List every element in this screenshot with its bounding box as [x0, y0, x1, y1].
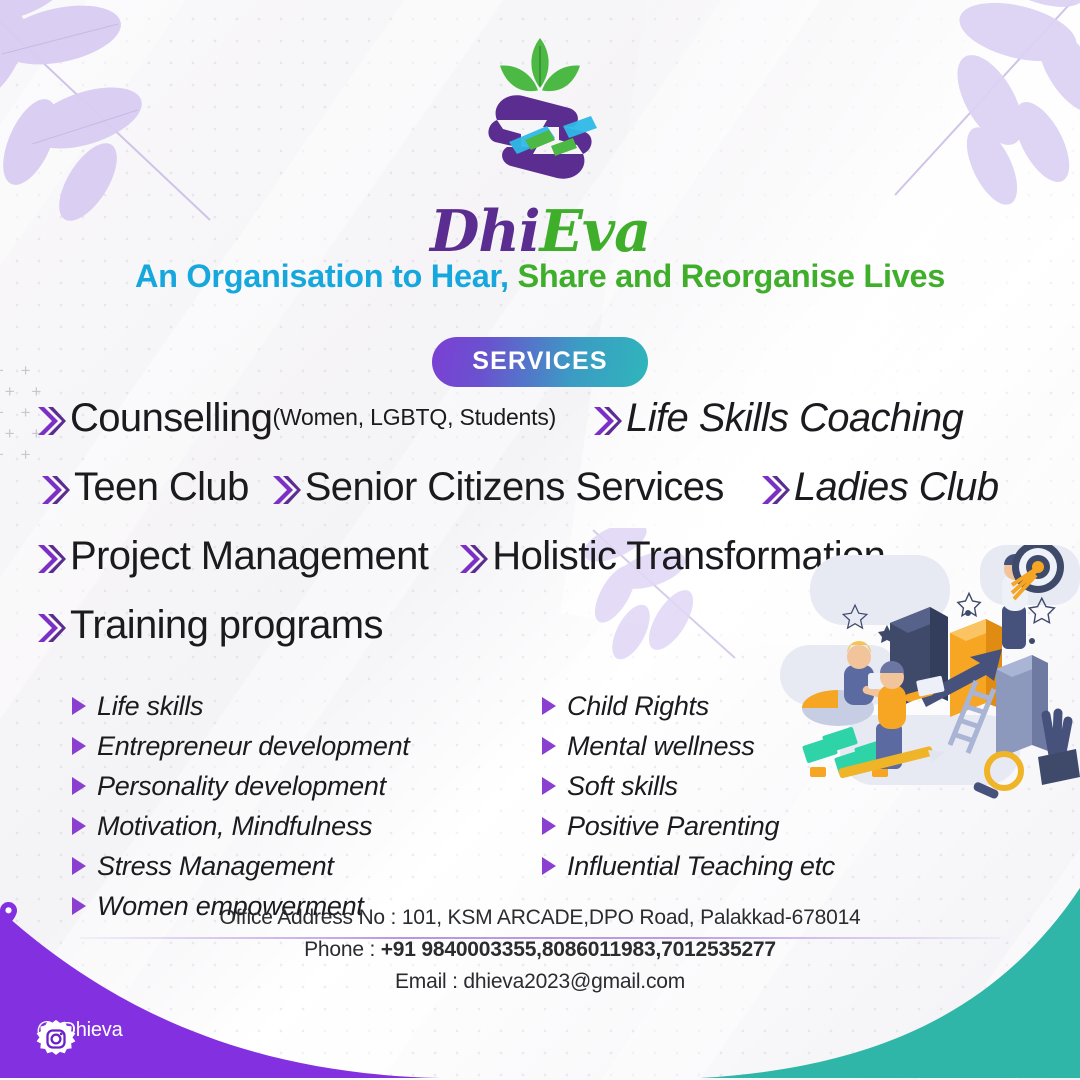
- service-label: Teen Club: [74, 465, 249, 510]
- list-item: Child Rights: [542, 686, 962, 726]
- service-label: Holistic Transformation: [492, 534, 885, 579]
- service-label: Training programs: [70, 603, 383, 648]
- social-block: @ Dhieva: [36, 1019, 123, 1042]
- training-label: Entrepreneur development: [97, 731, 410, 762]
- tagline: An Organisation to Hear, Share and Reorg…: [0, 258, 1080, 295]
- service-item-teen-club: Teen Club: [40, 465, 249, 510]
- phone-line: Phone : +91 9840003355,8086011983,701253…: [0, 934, 1080, 966]
- services-list: Counselling (Women, LGBTQ, Students) Lif…: [0, 396, 1080, 658]
- training-label: Motivation, Mindfulness: [97, 811, 372, 842]
- brand-name-part2: Eva: [540, 198, 651, 265]
- service-item-senior-citizens-services: Senior Citizens Services: [271, 465, 724, 510]
- service-item-holistic-transformation: Holistic Transformation: [458, 534, 885, 579]
- phone-label: Phone :: [304, 938, 381, 961]
- service-item-training-programs: Training programs: [36, 603, 383, 648]
- triangle-right-icon: [542, 777, 556, 795]
- brand-wordmark: DhiEva: [0, 203, 1080, 260]
- triangle-right-icon: [72, 777, 86, 795]
- service-label: Counselling: [70, 396, 272, 441]
- instagram-icon[interactable]: [36, 1019, 76, 1059]
- tagline-part2: Share and Reorganise Lives: [518, 258, 946, 294]
- service-row-1: Counselling (Women, LGBTQ, Students) Lif…: [0, 396, 1080, 441]
- training-label: Soft skills: [567, 771, 678, 802]
- training-label: Positive Parenting: [567, 811, 779, 842]
- service-row-2: Teen Club Senior Citizens Services Ladie…: [0, 465, 1080, 510]
- services-badge-row: SERVICES: [0, 337, 1080, 387]
- email-line: Email : dhieva2023@gmail.com: [0, 966, 1080, 998]
- service-row-4: Training programs: [0, 603, 1080, 648]
- double-chevron-right-icon: [36, 404, 66, 438]
- hands-leaf-logo-icon: [451, 28, 629, 208]
- service-item-project-management: Project Management: [36, 534, 428, 579]
- service-note: (Women, LGBTQ, Students): [272, 404, 556, 431]
- list-item: Mental wellness: [542, 726, 962, 766]
- footer: Office Address No : 101, KSM ARCADE,DPO …: [0, 888, 1080, 1080]
- service-item-counselling: Counselling (Women, LGBTQ, Students): [36, 396, 556, 441]
- double-chevron-right-icon: [36, 611, 66, 645]
- list-item: Life skills: [72, 686, 542, 726]
- triangle-right-icon: [72, 697, 86, 715]
- list-item: Personality development: [72, 766, 542, 806]
- service-label: Senior Citizens Services: [305, 465, 724, 510]
- double-chevron-right-icon: [760, 473, 790, 507]
- service-row-3: Project Management Holistic Transformati…: [0, 534, 1080, 579]
- triangle-right-icon: [542, 817, 556, 835]
- double-chevron-right-icon: [271, 473, 301, 507]
- brand-name-part1: Dhi: [430, 198, 540, 265]
- double-chevron-right-icon: [36, 542, 66, 576]
- list-item: Positive Parenting: [542, 806, 962, 846]
- service-label: Ladies Club: [794, 465, 999, 510]
- triangle-right-icon: [542, 737, 556, 755]
- phone-value: +91 9840003355,8086011983,7012535277: [381, 938, 776, 961]
- service-item-life-skills-coaching: Life Skills Coaching: [592, 396, 963, 441]
- training-label: Stress Management: [97, 851, 334, 882]
- double-chevron-right-icon: [458, 542, 488, 576]
- training-label: Mental wellness: [567, 731, 755, 762]
- poster-canvas: + + + ++ + + ++ + DhiEva: [0, 0, 1080, 1080]
- double-chevron-right-icon: [40, 473, 70, 507]
- triangle-right-icon: [542, 857, 556, 875]
- list-item: Stress Management: [72, 846, 542, 886]
- tagline-part1: An Organisation to Hear,: [135, 258, 509, 294]
- training-label: Influential Teaching etc: [567, 851, 835, 882]
- list-item: Soft skills: [542, 766, 962, 806]
- triangle-right-icon: [72, 857, 86, 875]
- training-label: Life skills: [97, 691, 203, 722]
- training-label: Child Rights: [567, 691, 709, 722]
- service-item-ladies-club: Ladies Club: [760, 465, 999, 510]
- email-label: Email :: [395, 970, 463, 993]
- triangle-right-icon: [542, 697, 556, 715]
- list-item: Motivation, Mindfulness: [72, 806, 542, 846]
- service-label: Life Skills Coaching: [626, 396, 963, 441]
- list-item: Entrepreneur development: [72, 726, 542, 766]
- service-label: Project Management: [70, 534, 428, 579]
- triangle-right-icon: [72, 817, 86, 835]
- location-pin-icon: [0, 902, 17, 925]
- training-label: Personality development: [97, 771, 386, 802]
- triangle-right-icon: [72, 737, 86, 755]
- email-value: dhieva2023@gmail.com: [463, 970, 685, 993]
- logo-block: DhiEva: [0, 28, 1080, 260]
- double-chevron-right-icon: [592, 404, 622, 438]
- contact-block: Office Address No : 101, KSM ARCADE,DPO …: [0, 902, 1080, 998]
- address-line: Office Address No : 101, KSM ARCADE,DPO …: [0, 902, 1080, 934]
- address-text: Office Address No : 101, KSM ARCADE,DPO …: [219, 902, 860, 934]
- services-badge: SERVICES: [432, 337, 648, 387]
- list-item: Influential Teaching etc: [542, 846, 962, 886]
